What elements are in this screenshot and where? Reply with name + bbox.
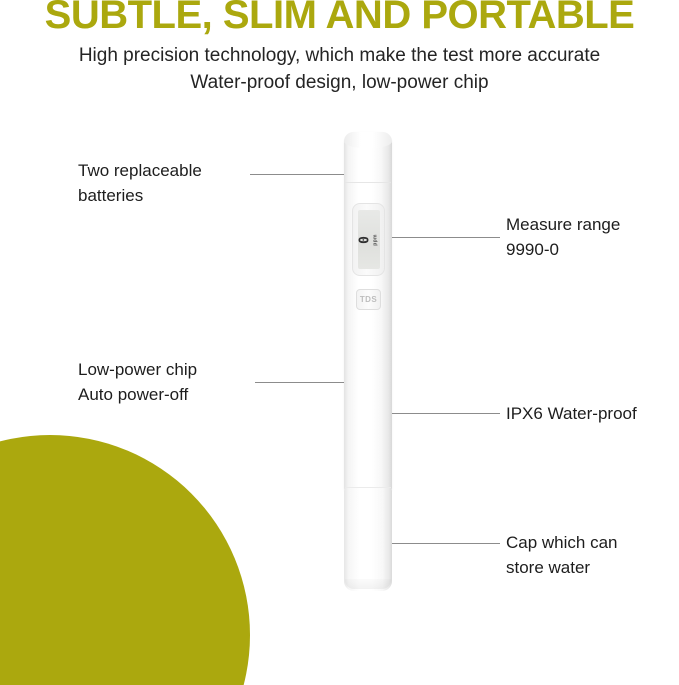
callout-cap: Cap which can store water [506,530,618,580]
leader-line-water-proof [392,413,500,414]
page-subtitle: High precision technology, which make th… [0,42,679,96]
lcd-readout: 0 ppm [360,212,379,268]
pen-top-dome [344,132,392,148]
callout-low-power-line-1: Low-power chip [78,357,197,382]
callout-batteries-line-1: Two replaceable [78,158,202,183]
callout-batteries: Two replaceable batteries [78,158,202,208]
pen-body: 0 ppm TDS [344,132,392,492]
leader-line-batteries [250,174,346,175]
lcd-screen: 0 ppm [358,210,380,269]
olive-circle-decoration [0,435,250,685]
callout-water-proof: IPX6 Water-proof [506,401,637,426]
leader-line-low-power [255,382,346,383]
callout-cap-line-1: Cap which can [506,530,618,555]
leader-line-measure-range [392,237,500,238]
subtitle-line-2: Water-proof design, low-power chip [0,69,679,96]
callout-batteries-line-2: batteries [78,183,202,208]
callout-water-proof-line-1: IPX6 Water-proof [506,401,637,426]
callout-measure-range-line-1: Measure range [506,212,620,237]
callout-low-power-line-2: Auto power-off [78,382,197,407]
lcd-digits: 0 [360,212,372,268]
pen-battery-seam [345,182,391,183]
pen-cap [344,488,392,591]
pen-cap-base [345,579,391,589]
callout-measure-range: Measure range 9990-0 [506,212,620,262]
infographic-canvas: SUBTLE, SLIM AND PORTABLE High precision… [0,0,679,685]
lcd-unit-label: ppm [373,212,379,268]
lcd-bezel: 0 ppm [352,203,385,276]
page-title: SUBTLE, SLIM AND PORTABLE [0,0,679,37]
callout-cap-line-2: store water [506,555,618,580]
tds-button-label: TDS [360,295,377,304]
callout-low-power: Low-power chip Auto power-off [78,357,197,407]
subtitle-line-1: High precision technology, which make th… [0,42,679,69]
tds-power-button[interactable]: TDS [356,289,381,310]
product-image-tds-pen: 0 ppm TDS [344,132,392,592]
leader-line-cap [392,543,500,544]
callout-measure-range-line-2: 9990-0 [506,237,620,262]
